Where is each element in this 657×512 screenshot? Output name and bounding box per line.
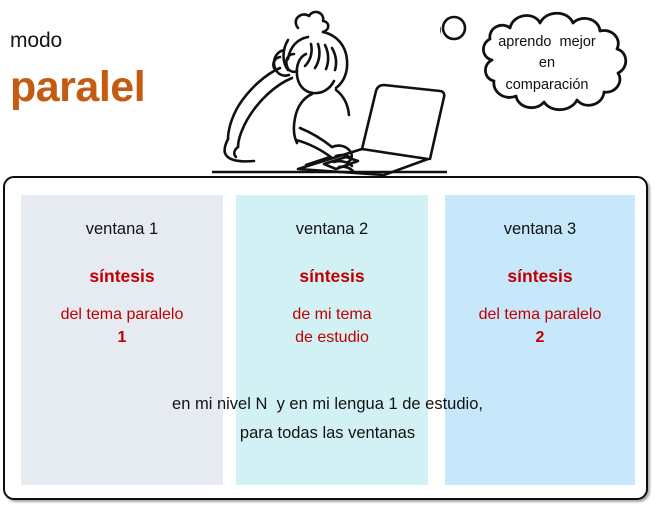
window-column-1[interactable]: ventana 1 síntesis del tema paralelo 1 [21,195,223,485]
window-column-3-content: ventana 3 síntesis del tema paralelo 2 [445,195,635,349]
window-column-1-content: ventana 1 síntesis del tema paralelo 1 [21,195,223,349]
window-3-description-line-2: 2 [445,327,635,350]
window-2-label: ventana 2 [236,195,428,238]
window-1-description-line-2: 1 [21,327,223,350]
window-2-description: de mi tema de estudio [236,285,428,349]
window-1-label: ventana 1 [21,195,223,238]
window-column-2[interactable]: ventana 2 síntesis de mi tema de estudio [236,195,428,485]
window-column-3[interactable]: ventana 3 síntesis del tema paralelo 2 [445,195,635,485]
bubble-line-3: comparación [462,75,632,96]
window-1-synthesis-label: síntesis [21,238,223,286]
window-2-description-line-1: de mi tema [236,304,428,327]
window-1-description-line-1: del tema paralelo [21,304,223,327]
header: modo paralel [0,0,657,176]
window-column-2-content: ventana 2 síntesis de mi tema de estudio [236,195,428,349]
windows-panel: ventana 1 síntesis del tema paralelo 1 v… [3,176,648,500]
window-2-description-line-2: de estudio [236,327,428,350]
window-2-synthesis-label: síntesis [236,238,428,286]
columns-container: ventana 1 síntesis del tema paralelo 1 v… [5,178,646,498]
thought-bubble-text: aprendo mejor en comparación [462,32,632,96]
bubble-line-1: aprendo mejor [462,32,632,53]
mode-label: modo [10,30,62,51]
window-1-description: del tema paralelo 1 [21,285,223,349]
window-3-description: del tema paralelo 2 [445,285,635,349]
person-at-laptop-icon [212,4,447,181]
window-3-label: ventana 3 [445,195,635,238]
mode-name-title: paralel [10,66,145,109]
bubble-line-2: en [462,53,632,74]
window-3-description-line-1: del tema paralelo [445,304,635,327]
window-3-synthesis-label: síntesis [445,238,635,286]
